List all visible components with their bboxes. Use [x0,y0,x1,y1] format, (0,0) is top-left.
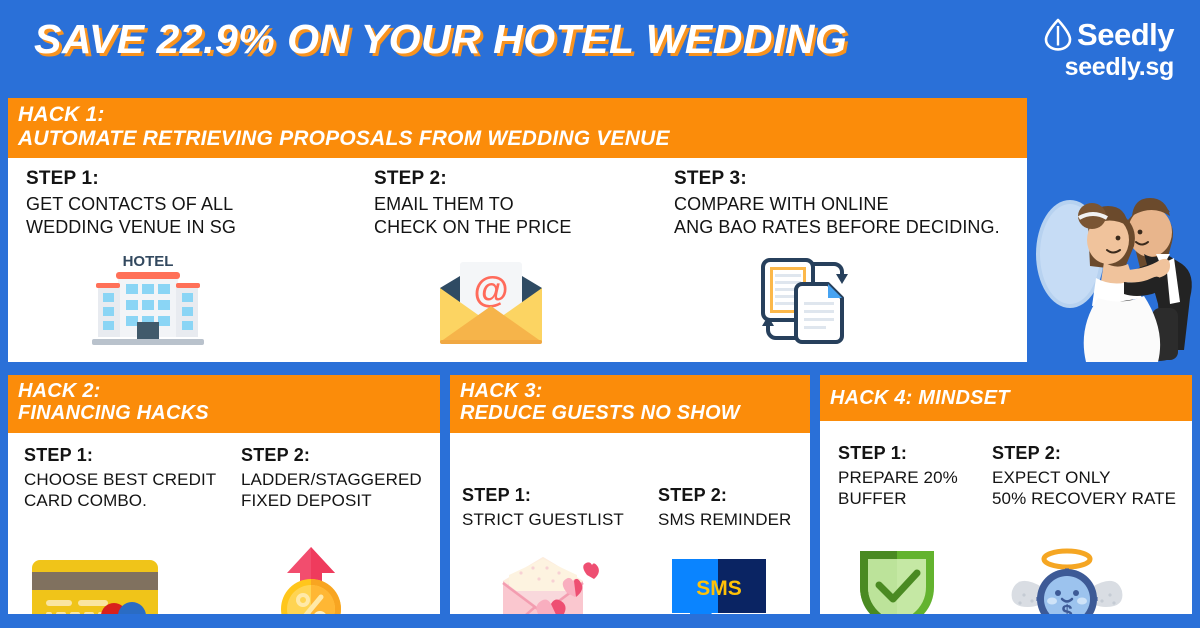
money-angel-icon: $ [1008,543,1126,614]
panel-hack3-header: HACK 3: REDUCE GUESTS NO SHOW [450,375,810,433]
step-text: SMS REMINDER [658,509,791,530]
step-number: STEP 3: [674,168,1000,190]
brand-name: Seedly [1077,19,1174,50]
panel-hack2-header: HACK 2: FINANCING HACKS [8,375,440,433]
step-item: STEP 2: LADDER/STAGGERED FIXED DEPOSIT [241,445,422,512]
step-number: STEP 2: [374,168,572,190]
step-number: STEP 2: [241,445,422,466]
sms-label: SMS [696,577,742,600]
panel-hack1-header: HACK 1: AUTOMATE RETRIEVING PROPOSALS FR… [8,98,1027,158]
panel-hack4-title: HACK 4: MINDSET [830,387,1010,409]
step-number: STEP 1: [462,485,624,506]
credit-card-icon [30,558,160,614]
hotel-icon: HOTEL [88,250,208,350]
panel-hack2-subtitle: FINANCING HACKS [18,402,430,424]
step-item: STEP 1: STRICT GUESTLIST [462,485,624,530]
step-item: STEP 2: EMAIL THEM TO CHECK ON THE PRICE [374,168,572,238]
love-letter-icon [495,555,605,614]
page-title: SAVE 22.9% ON YOUR HOTEL WEDDING [34,16,847,63]
hotel-sign-text: HOTEL [123,253,174,270]
step-number: STEP 2: [992,443,1176,464]
email-at-icon: @ [436,254,546,350]
step-text: EMAIL THEM TO CHECK ON THE PRICE [374,193,572,238]
panel-hack2: HACK 2: FINANCING HACKS STEP 1: CHOOSE B… [8,375,440,614]
brand-url: seedly.sg [1043,55,1174,80]
panel-hack4: HACK 4: MINDSET STEP 1: PREPARE 20% BUFF… [820,375,1192,614]
documents-sync-icon [750,250,860,350]
step-item: STEP 1: PREPARE 20% BUFFER [838,443,958,510]
step-number: STEP 2: [658,485,791,506]
step-item: STEP 3: COMPARE WITH ONLINE ANG BAO RATE… [674,168,1000,238]
panel-hack1-subtitle: AUTOMATE RETRIEVING PROPOSALS FROM WEDDI… [18,127,1017,151]
step-text: GET CONTACTS OF ALL WEDDING VENUE IN SG [26,193,236,238]
step-text: EXPECT ONLY 50% RECOVERY RATE [992,467,1176,510]
green-shield-check-icon [852,543,942,614]
step-item: STEP 2: EXPECT ONLY 50% RECOVERY RATE [992,443,1176,510]
step-number: STEP 1: [24,445,216,466]
svg-text:$: $ [1061,602,1072,614]
seedly-droplet-logo-icon [1043,18,1073,51]
step-item: STEP 2: SMS REMINDER [658,485,791,530]
step-text: COMPARE WITH ONLINE ANG BAO RATES BEFORE… [674,193,1000,238]
wedding-couple-illustration [1032,158,1196,370]
step-text: CHOOSE BEST CREDIT CARD COMBO. [24,469,216,512]
step-number: STEP 1: [26,168,236,190]
step-item: STEP 1: CHOOSE BEST CREDIT CARD COMBO. [24,445,216,512]
infographic-canvas: SAVE 22.9% ON YOUR HOTEL WEDDING Seedly … [0,0,1200,628]
step-text: PREPARE 20% BUFFER [838,467,958,510]
step-text: LADDER/STAGGERED FIXED DEPOSIT [241,469,422,512]
coin-up-arrow-icon [273,545,349,614]
panel-hack1: HACK 1: AUTOMATE RETRIEVING PROPOSALS FR… [8,98,1027,362]
svg-text:@: @ [473,269,508,310]
step-number: STEP 1: [838,443,958,464]
panel-hack3: HACK 3: REDUCE GUESTS NO SHOW STEP 1: ST… [450,375,810,614]
step-text: STRICT GUESTLIST [462,509,624,530]
panel-hack3-title: HACK 3: [460,380,800,402]
panel-hack3-subtitle: REDUCE GUESTS NO SHOW [460,402,800,424]
panel-hack1-title: HACK 1: [18,103,1017,127]
brand-block: Seedly seedly.sg [1043,18,1174,80]
step-item: STEP 1: GET CONTACTS OF ALL WEDDING VENU… [26,168,236,238]
sms-bubble-icon: SMS [668,555,770,614]
panel-hack4-header: HACK 4: MINDSET [820,375,1192,421]
panel-hack2-title: HACK 2: [18,380,430,402]
